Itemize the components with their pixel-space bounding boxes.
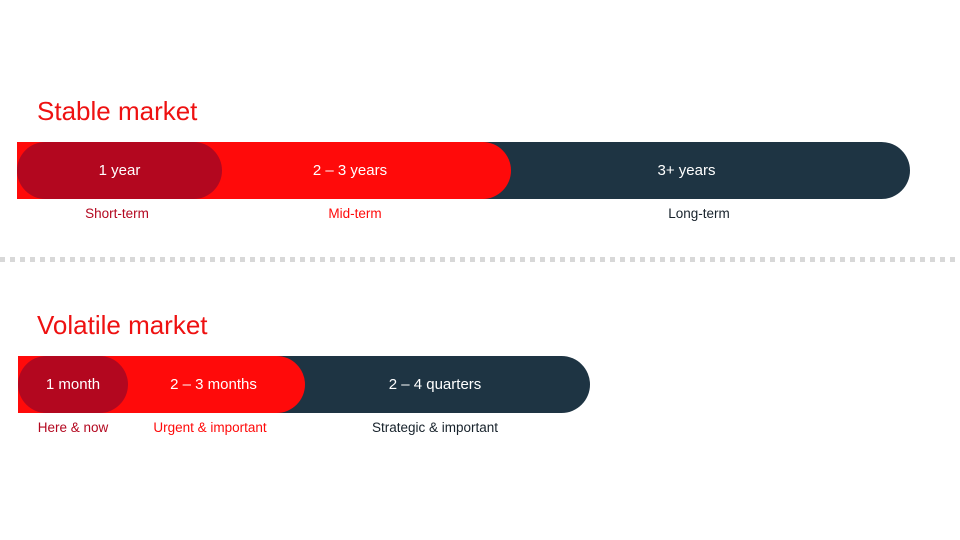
slide-canvas: { "slide": { "background_color": "#FFFFF… bbox=[0, 0, 960, 540]
segment-short-term-volatile-label: 1 month bbox=[46, 376, 100, 394]
segment-short-term-stable-label: 1 year bbox=[99, 162, 141, 180]
caption-short-term-stable: Short-term bbox=[85, 205, 149, 222]
segment-mid-term-volatile-label: 2 – 3 months bbox=[170, 376, 257, 394]
caption-mid-term-volatile: Urgent & important bbox=[153, 419, 266, 436]
segment-long-term-stable-label: 3+ years bbox=[658, 162, 716, 180]
caption-short-term-volatile: Here & now bbox=[38, 419, 109, 436]
caption-mid-term-stable: Mid-term bbox=[328, 205, 381, 222]
segment-short-term-volatile[interactable]: 1 month bbox=[18, 356, 128, 413]
section-divider bbox=[0, 257, 960, 262]
segment-mid-term-stable-label: 2 – 3 years bbox=[313, 162, 387, 180]
caption-long-term-stable: Long-term bbox=[668, 205, 730, 222]
section-title-stable-market: Stable market bbox=[37, 95, 197, 127]
segment-long-term-volatile-label: 2 – 4 quarters bbox=[389, 376, 482, 394]
caption-long-term-volatile: Strategic & important bbox=[372, 419, 498, 436]
segment-short-term-stable[interactable]: 1 year bbox=[17, 142, 222, 199]
section-title-volatile-market: Volatile market bbox=[37, 309, 208, 341]
